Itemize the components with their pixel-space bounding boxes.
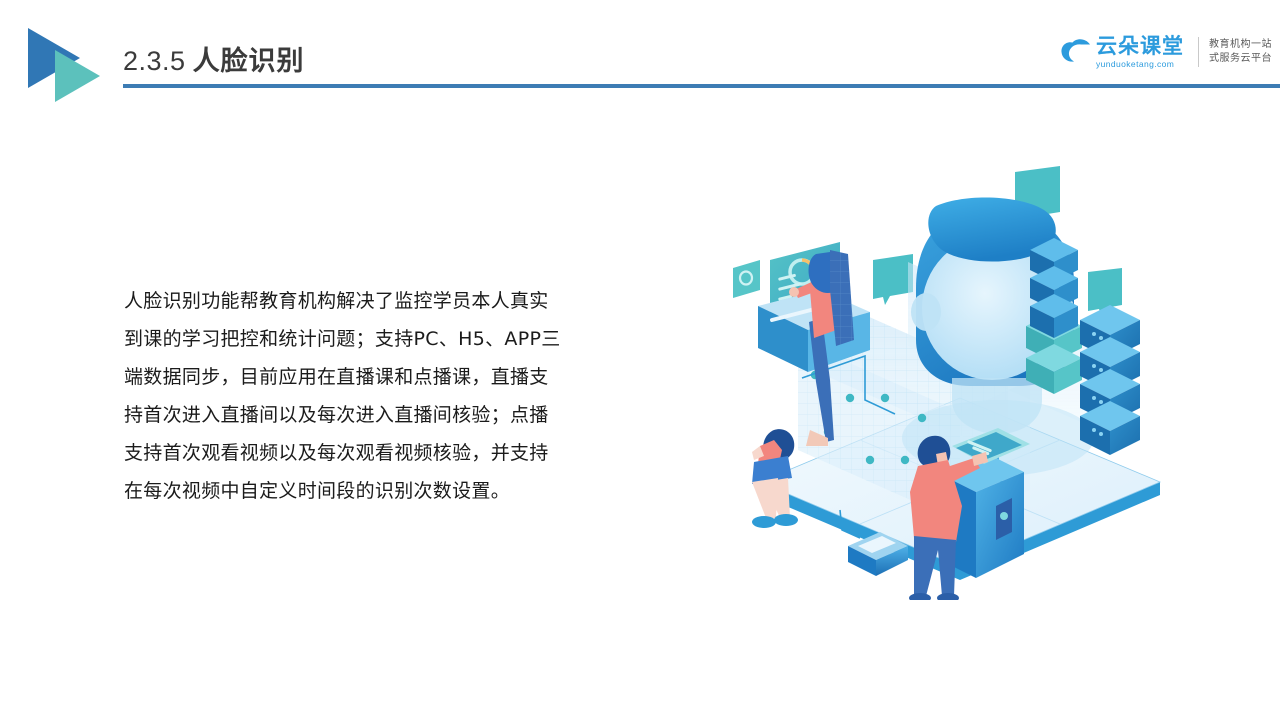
paragraph-line: 在每次视频中自定义时间段的识别次数设置。 — [124, 472, 614, 510]
brand-tagline-line-2: 式服务云平台 — [1209, 52, 1272, 67]
page-title: 2.3.5人脸识别 — [123, 48, 305, 75]
slide-root: 2.3.5人脸识别 云朵课堂 yunduoketang.com 教育机构一站 式… — [0, 0, 1280, 720]
header-divider-rule — [123, 84, 1280, 88]
section-title-text: 人脸识别 — [193, 46, 305, 76]
paragraph-line: 持首次进入直播间以及每次进入直播间核验；点播 — [124, 396, 614, 434]
server-rack-blue-center — [1030, 238, 1078, 338]
brand-logo-main: 云朵课堂 yunduoketang.com — [1060, 36, 1196, 69]
brand-tagline: 教育机构一站 式服务云平台 — [1209, 38, 1272, 67]
body-paragraph: 人脸识别功能帮教育机构解决了监控学员本人真实 到课的学习把控和统计问题；支持PC… — [124, 282, 614, 510]
paragraph-line: 端数据同步，目前应用在直播课和点播课，直播支 — [124, 358, 614, 396]
brand-name-cn: 云朵课堂 — [1096, 36, 1184, 57]
double-triangle-play-mark-icon — [26, 28, 118, 106]
cloud-icon — [1060, 37, 1094, 67]
brand-tagline-line-1: 教育机构一站 — [1209, 38, 1272, 53]
paragraph-line: 人脸识别功能帮教育机构解决了监控学员本人真实 — [124, 282, 614, 320]
brand-logo: 云朵课堂 yunduoketang.com 教育机构一站 式服务云平台 — [1060, 30, 1272, 74]
brand-logo-wordmark: 云朵课堂 yunduoketang.com — [1096, 36, 1184, 69]
section-number: 2.3.5 — [123, 46, 186, 76]
dashboard-panel-small — [733, 260, 760, 298]
logo-divider — [1198, 37, 1199, 67]
paragraph-line: 到课的学习把控和统计问题；支持PC、H5、APP三 — [124, 320, 614, 358]
slide-header: 2.3.5人脸识别 云朵课堂 yunduoketang.com 教育机构一站 式… — [0, 0, 1280, 95]
brand-domain: yunduoketang.com — [1096, 60, 1184, 69]
isometric-illustration — [730, 150, 1190, 600]
server-rack-blue-right — [1080, 305, 1140, 455]
triangle-front-shape — [55, 50, 100, 102]
paragraph-line: 支持首次观看视频以及每次观看视频核验，并支持 — [124, 434, 614, 472]
chat-bubble-left — [873, 254, 913, 305]
